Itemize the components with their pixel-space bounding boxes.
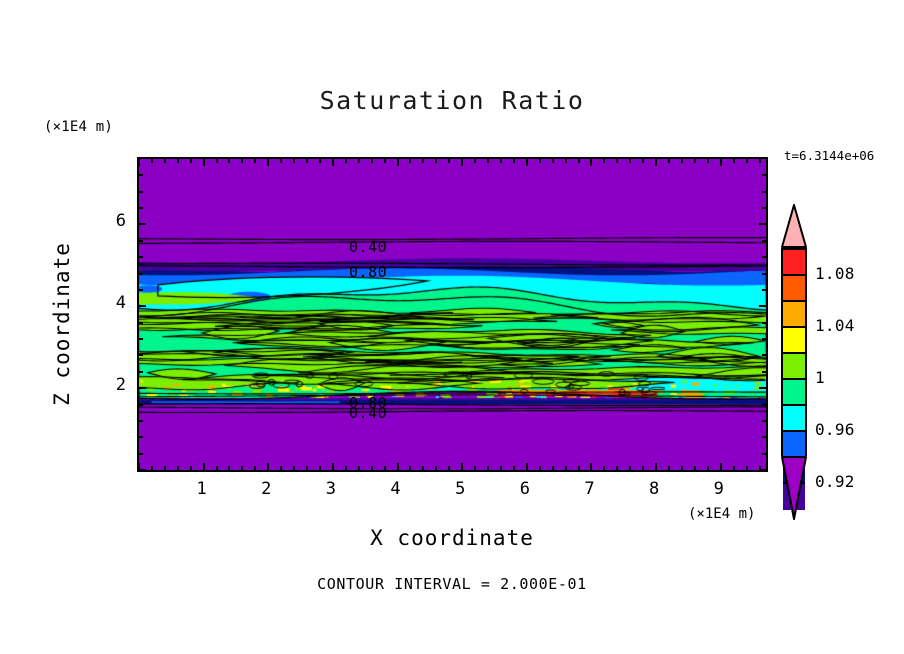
y-minor-tick xyxy=(139,354,143,356)
x-minor-tick xyxy=(759,159,761,163)
x-minor-tick xyxy=(306,159,308,163)
y-major-tick xyxy=(139,305,146,307)
y-minor-tick xyxy=(762,174,766,176)
y-minor-tick xyxy=(762,191,766,193)
x-minor-tick xyxy=(371,159,373,163)
x-minor-tick xyxy=(319,159,321,163)
x-minor-tick xyxy=(409,466,411,470)
x-minor-tick xyxy=(629,466,631,470)
x-minor-tick xyxy=(435,159,437,163)
x-tick-label: 9 xyxy=(704,479,734,499)
x-minor-tick xyxy=(733,159,735,163)
x-minor-tick xyxy=(319,466,321,470)
x-minor-tick xyxy=(629,159,631,163)
y-minor-tick xyxy=(139,338,143,340)
y-minor-tick xyxy=(139,207,143,209)
x-minor-tick xyxy=(384,159,386,163)
page-title: Saturation Ratio xyxy=(0,86,904,115)
y-minor-tick xyxy=(762,322,766,324)
x-minor-tick xyxy=(681,159,683,163)
x-major-tick xyxy=(461,463,463,470)
y-major-tick xyxy=(139,387,146,389)
x-minor-tick xyxy=(216,159,218,163)
x-major-tick xyxy=(720,159,722,166)
x-minor-tick xyxy=(409,159,411,163)
y-minor-tick xyxy=(762,338,766,340)
x-minor-tick xyxy=(177,159,179,163)
x-major-tick xyxy=(267,463,269,470)
x-minor-tick xyxy=(746,159,748,163)
x-minor-tick xyxy=(435,466,437,470)
x-major-tick xyxy=(332,463,334,470)
x-minor-tick xyxy=(500,159,502,163)
x-minor-tick xyxy=(345,159,347,163)
x-minor-tick xyxy=(668,466,670,470)
time-stamp-label: t=6.3144e+06 xyxy=(784,148,874,163)
x-minor-tick xyxy=(539,466,541,470)
x-minor-tick xyxy=(448,159,450,163)
y-axis-units-label: (×1E4 m) xyxy=(44,119,113,135)
y-minor-tick xyxy=(762,289,766,291)
x-major-tick xyxy=(332,159,334,166)
x-minor-tick xyxy=(422,159,424,163)
x-minor-tick xyxy=(254,466,256,470)
x-major-tick xyxy=(590,159,592,166)
y-minor-tick xyxy=(762,404,766,406)
y-minor-tick xyxy=(139,289,143,291)
x-minor-tick xyxy=(707,159,709,163)
x-minor-tick xyxy=(733,466,735,470)
colorbar-band xyxy=(783,250,805,276)
y-minor-tick xyxy=(762,240,766,242)
x-minor-tick xyxy=(190,159,192,163)
y-tick-label: 6 xyxy=(104,211,126,231)
y-axis-title: Z coordinate xyxy=(50,234,74,414)
x-minor-tick xyxy=(539,159,541,163)
x-minor-tick xyxy=(164,159,166,163)
x-tick-label: 4 xyxy=(381,479,411,499)
x-minor-tick xyxy=(448,466,450,470)
x-tick-label: 5 xyxy=(445,479,475,499)
x-tick-label: 6 xyxy=(510,479,540,499)
x-major-tick xyxy=(526,159,528,166)
x-minor-tick xyxy=(151,159,153,163)
x-minor-tick xyxy=(694,466,696,470)
x-minor-tick xyxy=(228,159,230,163)
x-tick-label: 7 xyxy=(574,479,604,499)
contour-plot-area: 0.400.800.800.40 xyxy=(137,157,768,472)
x-major-tick xyxy=(138,159,140,166)
y-minor-tick xyxy=(139,420,143,422)
x-minor-tick xyxy=(603,466,605,470)
y-minor-tick xyxy=(139,404,143,406)
colorbar-tick-label: 1.08 xyxy=(815,264,855,283)
y-major-tick xyxy=(139,469,146,471)
x-major-tick xyxy=(267,159,269,166)
contour-line-label: 0.40 xyxy=(349,404,387,422)
x-major-tick xyxy=(203,463,205,470)
y-minor-tick xyxy=(139,174,143,176)
x-tick-label: 8 xyxy=(639,479,669,499)
x-axis-title: X coordinate xyxy=(0,526,904,550)
y-minor-tick xyxy=(762,420,766,422)
colorbar xyxy=(781,248,807,456)
y-minor-tick xyxy=(139,273,143,275)
x-minor-tick xyxy=(384,466,386,470)
x-major-tick xyxy=(397,159,399,166)
x-major-tick xyxy=(655,159,657,166)
y-minor-tick xyxy=(139,436,143,438)
y-major-tick xyxy=(759,305,766,307)
y-minor-tick xyxy=(762,273,766,275)
y-tick-label: 2 xyxy=(104,375,126,395)
colorbar-over-arrow xyxy=(781,204,807,248)
x-minor-tick xyxy=(371,466,373,470)
colorbar-tick-label: 1 xyxy=(815,368,825,387)
x-major-tick xyxy=(655,463,657,470)
x-major-tick xyxy=(526,463,528,470)
y-minor-tick xyxy=(762,453,766,455)
x-minor-tick xyxy=(177,466,179,470)
x-major-tick xyxy=(720,463,722,470)
x-minor-tick xyxy=(616,159,618,163)
contour-line-label: 0.40 xyxy=(349,238,387,256)
y-minor-tick xyxy=(762,256,766,258)
x-major-tick xyxy=(203,159,205,166)
x-minor-tick xyxy=(487,159,489,163)
x-minor-tick xyxy=(151,466,153,470)
x-tick-label: 2 xyxy=(251,479,281,499)
x-minor-tick xyxy=(578,466,580,470)
y-minor-tick xyxy=(139,240,143,242)
x-minor-tick xyxy=(474,466,476,470)
x-minor-tick xyxy=(565,466,567,470)
x-minor-tick xyxy=(254,159,256,163)
x-minor-tick xyxy=(616,466,618,470)
y-major-tick xyxy=(759,387,766,389)
y-minor-tick xyxy=(139,453,143,455)
x-minor-tick xyxy=(358,466,360,470)
x-minor-tick xyxy=(280,159,282,163)
y-major-tick xyxy=(759,223,766,225)
x-minor-tick xyxy=(552,159,554,163)
x-minor-tick xyxy=(681,466,683,470)
x-minor-tick xyxy=(241,466,243,470)
colorbar-band xyxy=(783,302,805,328)
x-minor-tick xyxy=(487,466,489,470)
x-tick-label: 3 xyxy=(316,479,346,499)
colorbar-band xyxy=(783,354,805,380)
x-minor-tick xyxy=(642,466,644,470)
y-minor-tick xyxy=(139,191,143,193)
y-minor-tick xyxy=(139,322,143,324)
contour-field-canvas xyxy=(139,159,766,470)
y-minor-tick xyxy=(762,354,766,356)
y-minor-tick xyxy=(762,371,766,373)
colorbar-band xyxy=(783,276,805,302)
x-minor-tick xyxy=(642,159,644,163)
x-minor-tick xyxy=(746,466,748,470)
contour-interval-label: CONTOUR INTERVAL = 2.000E-01 xyxy=(0,575,904,593)
x-minor-tick xyxy=(694,159,696,163)
x-minor-tick xyxy=(603,159,605,163)
x-minor-tick xyxy=(241,159,243,163)
x-tick-label: 1 xyxy=(187,479,217,499)
x-minor-tick xyxy=(500,466,502,470)
x-minor-tick xyxy=(513,466,515,470)
x-minor-tick xyxy=(358,159,360,163)
x-minor-tick xyxy=(190,466,192,470)
colorbar-band xyxy=(783,328,805,354)
x-minor-tick xyxy=(293,466,295,470)
x-major-tick xyxy=(397,463,399,470)
y-tick-label: 4 xyxy=(104,293,126,313)
x-minor-tick xyxy=(707,466,709,470)
x-minor-tick xyxy=(668,159,670,163)
x-major-tick xyxy=(461,159,463,166)
y-minor-tick xyxy=(139,256,143,258)
y-minor-tick xyxy=(139,371,143,373)
colorbar-tick-label: 0.96 xyxy=(815,420,855,439)
x-minor-tick xyxy=(228,466,230,470)
colorbar-band xyxy=(783,380,805,406)
y-minor-tick xyxy=(762,436,766,438)
x-minor-tick xyxy=(306,466,308,470)
x-minor-tick xyxy=(513,159,515,163)
y-major-tick xyxy=(139,223,146,225)
x-minor-tick xyxy=(422,466,424,470)
x-minor-tick xyxy=(578,159,580,163)
y-major-tick xyxy=(759,469,766,471)
x-minor-tick xyxy=(565,159,567,163)
x-minor-tick xyxy=(216,466,218,470)
colorbar-under-arrow xyxy=(781,456,807,520)
x-major-tick xyxy=(590,463,592,470)
y-minor-tick xyxy=(762,207,766,209)
x-minor-tick xyxy=(474,159,476,163)
x-axis-units-label: (×1E4 m) xyxy=(688,506,755,522)
x-minor-tick xyxy=(164,466,166,470)
x-minor-tick xyxy=(293,159,295,163)
contour-line-label: 0.80 xyxy=(349,263,387,281)
colorbar-tick-label: 1.04 xyxy=(815,316,855,335)
x-minor-tick xyxy=(552,466,554,470)
colorbar-band xyxy=(783,432,805,458)
x-minor-tick xyxy=(345,466,347,470)
x-minor-tick xyxy=(280,466,282,470)
colorbar-band xyxy=(783,406,805,432)
colorbar-tick-label: 0.92 xyxy=(815,472,855,491)
